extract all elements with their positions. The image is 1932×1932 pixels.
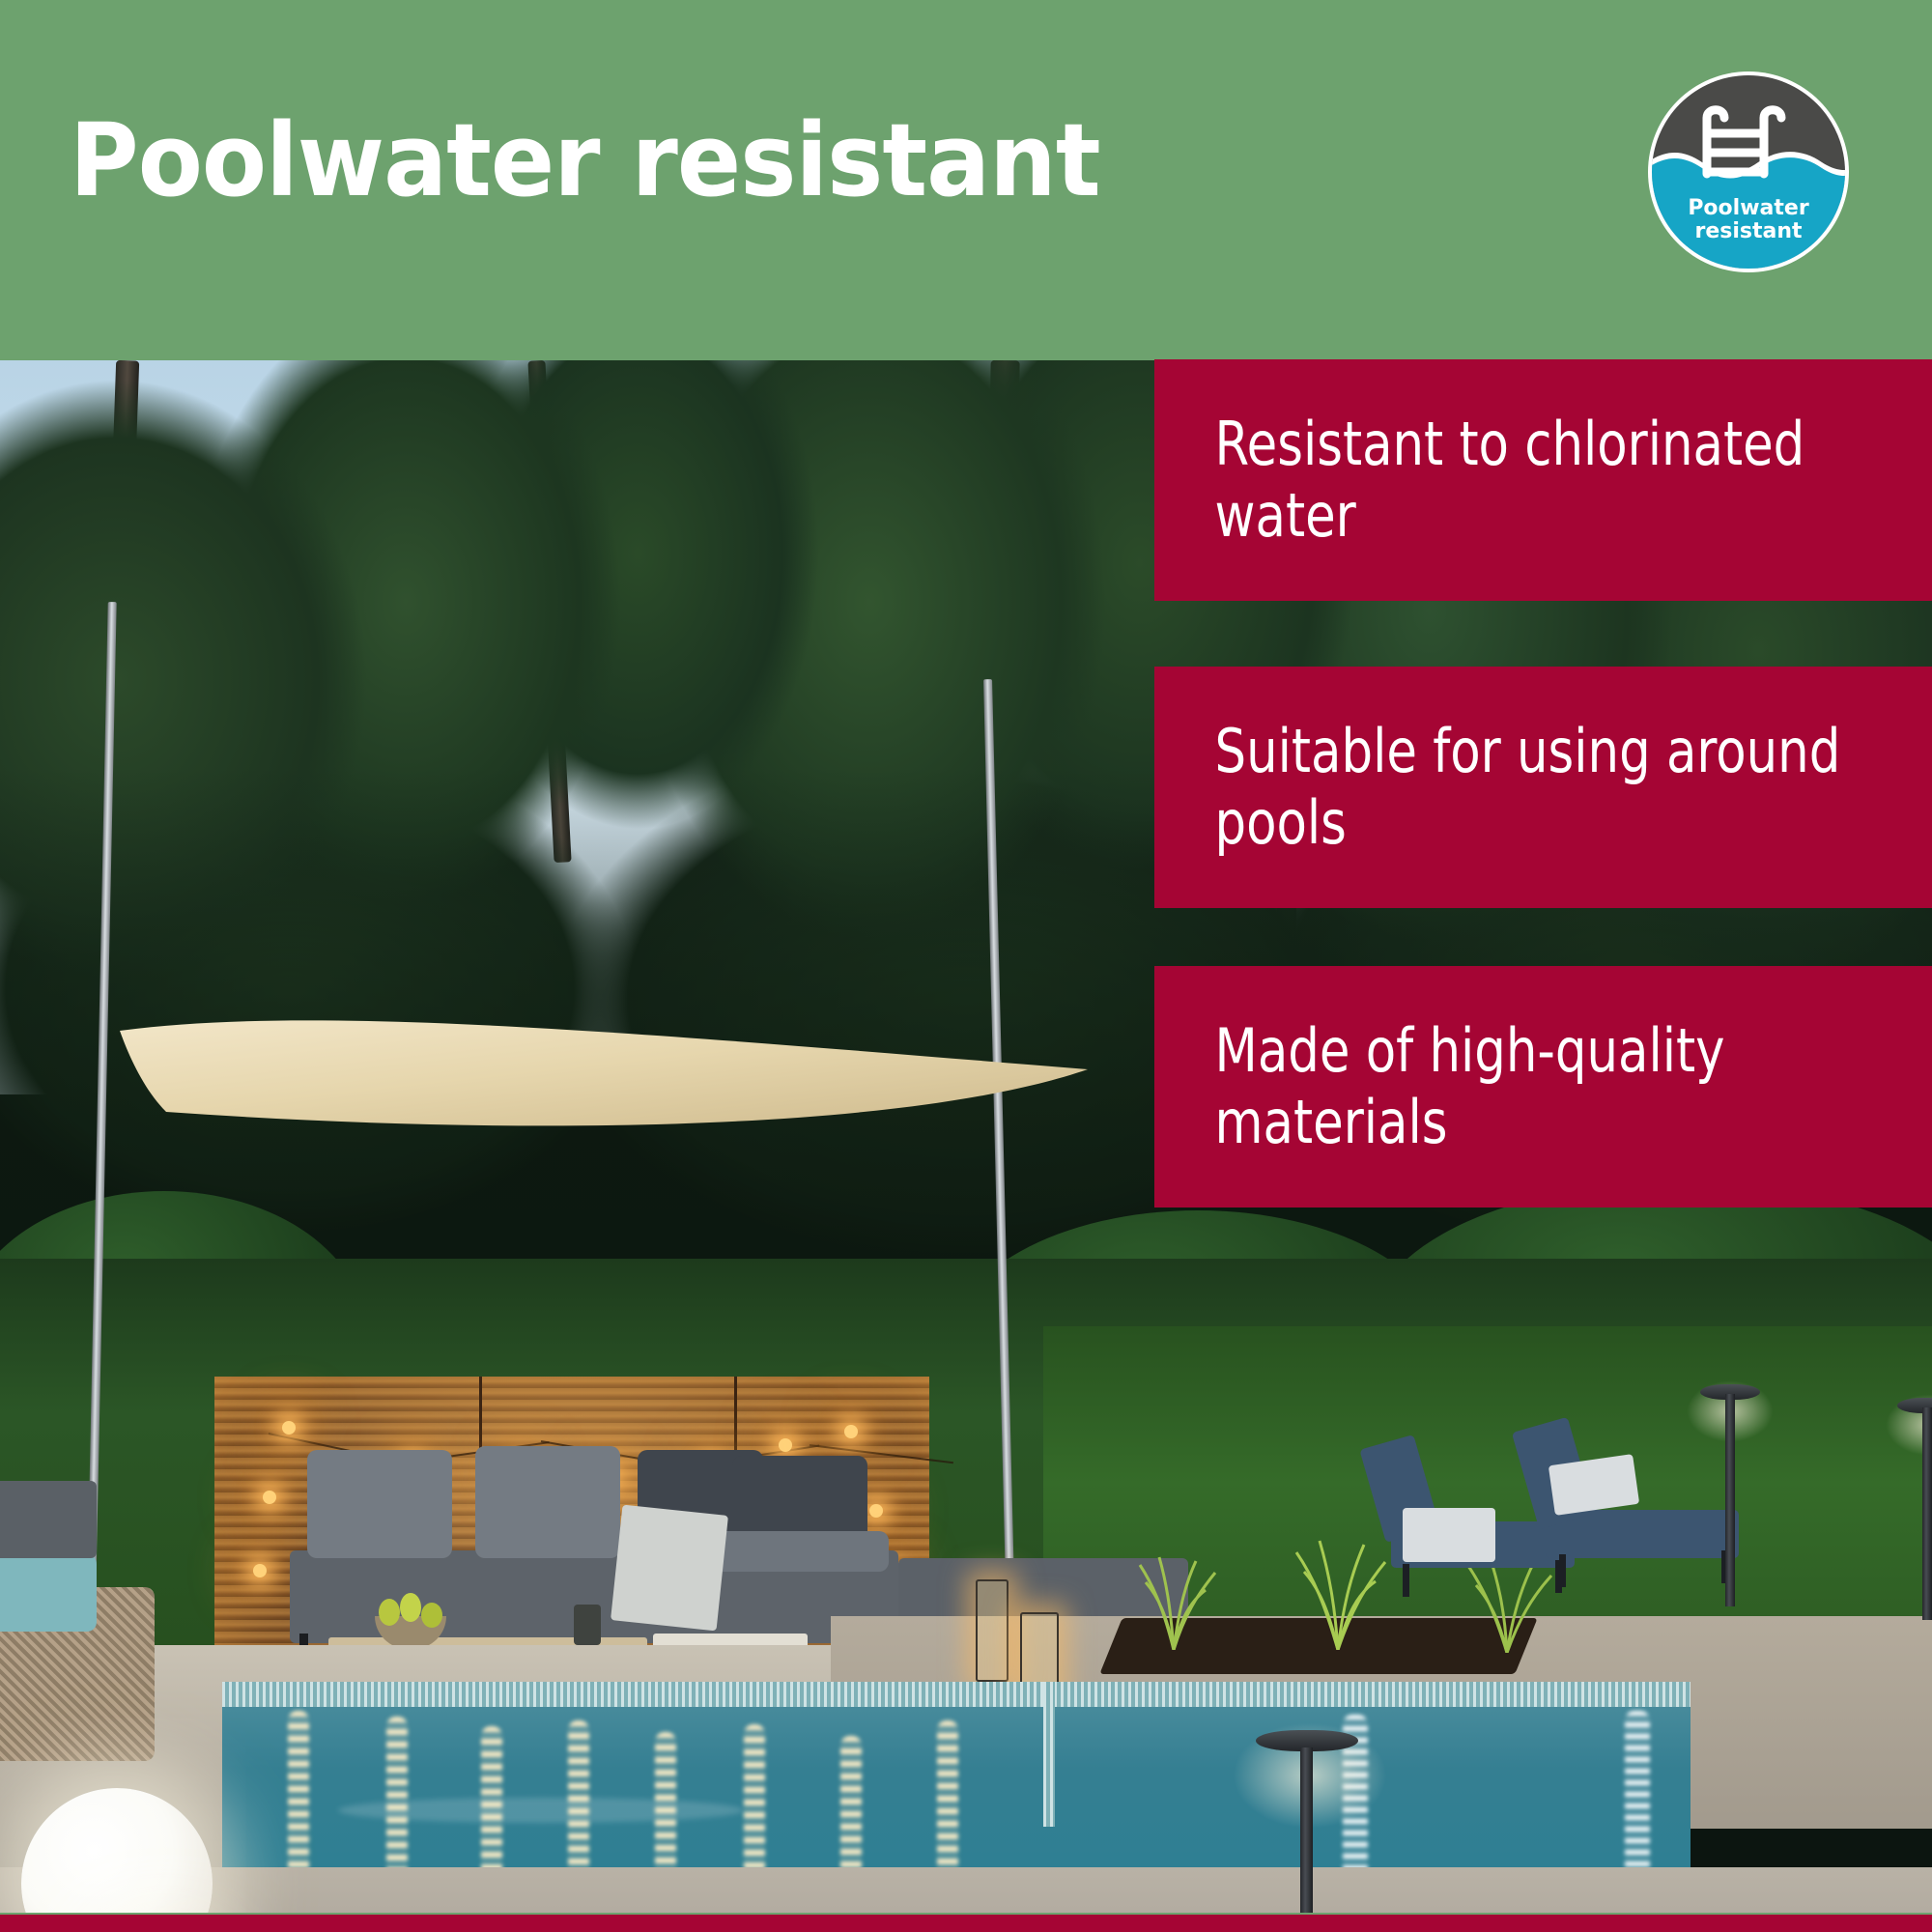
callout-item-3: Made of high-quality materials: [1154, 966, 1932, 1207]
bollard-light-post: [1922, 1407, 1932, 1620]
footer-red-bar: [0, 1915, 1932, 1932]
pear: [400, 1593, 421, 1622]
callout-item-1: Resistant to chlorinated water: [1154, 359, 1932, 601]
patio-front-edge: [0, 1867, 1932, 1913]
towel: [1403, 1508, 1495, 1562]
ornamental-grass: [1265, 1529, 1410, 1650]
header-bar: Poolwater resistant: [0, 0, 1932, 360]
lounger-leg: [1559, 1554, 1566, 1587]
lounger-leg: [1403, 1564, 1409, 1597]
lantern: [976, 1579, 1009, 1682]
callout-item-2: Suitable for using around pools: [1154, 667, 1932, 908]
wicker-cushion: [0, 1554, 97, 1632]
string-light-bulb: [282, 1421, 296, 1435]
sofa-back-cushion: [475, 1446, 620, 1558]
string-light-bulb: [253, 1564, 267, 1577]
poster-root: Poolwater resistant: [0, 0, 1932, 1932]
bollard-light-post: [1725, 1394, 1735, 1606]
pool-tile-edge: [222, 1682, 1690, 1707]
badge-line2: resistant: [1694, 219, 1803, 243]
bollard-light-post: [1300, 1747, 1313, 1913]
callout-text: Made of high-quality materials: [1154, 1015, 1870, 1159]
pool-tile-edge: [1043, 1682, 1055, 1827]
string-light-bulb: [263, 1491, 276, 1504]
pear: [379, 1599, 400, 1626]
string-light-bulb: [844, 1425, 858, 1438]
outdoor-bench: [0, 1481, 97, 1558]
sofa-back-cushion: [307, 1450, 452, 1558]
kettle: [574, 1605, 601, 1645]
string-light-bulb: [779, 1438, 792, 1452]
throw-blanket: [611, 1505, 728, 1632]
callout-text: Resistant to chlorinated water: [1154, 409, 1870, 553]
poolwater-resistant-badge: Poolwater resistant: [1642, 66, 1855, 278]
shade-sail: [116, 1009, 1092, 1154]
badge-line1: Poolwater: [1688, 196, 1809, 220]
pear: [421, 1603, 442, 1628]
callout-text: Suitable for using around pools: [1154, 716, 1870, 860]
page-title: Poolwater resistant: [70, 108, 1100, 213]
string-light-bulb: [869, 1504, 883, 1518]
ornamental-grass: [1111, 1544, 1236, 1650]
